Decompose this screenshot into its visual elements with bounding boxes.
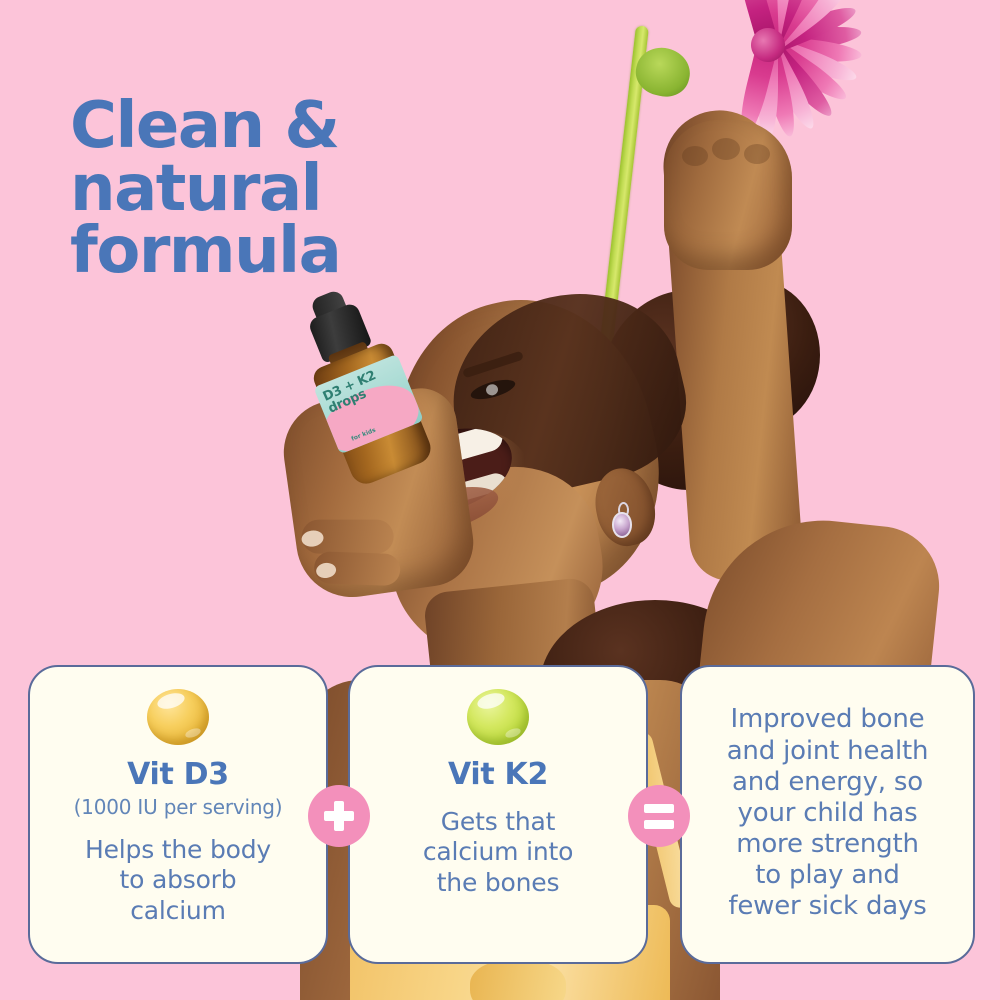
card-body: Gets that calcium into the bones <box>423 807 573 899</box>
earring-icon <box>612 512 632 538</box>
card-body: Helps the body to absorb calcium <box>85 835 271 927</box>
card-title: Vit D3 <box>127 759 229 791</box>
equals-badge <box>628 785 690 847</box>
card-subtitle: (1000 IU per serving) <box>74 795 283 819</box>
benefit-card-result[interactable]: Improved bone and joint health and energ… <box>680 665 975 964</box>
card-body: Improved bone and joint health and energ… <box>727 704 929 922</box>
green-droplet-icon <box>467 689 529 745</box>
product-marketing-image: D3 + K2 drops for kids Clean & natural f… <box>0 0 1000 1000</box>
benefit-card-vit-k2[interactable]: Vit K2 Gets that calcium into the bones <box>348 665 648 964</box>
gerbera-flower-icon <box>639 0 898 136</box>
yellow-droplet-icon <box>147 689 209 745</box>
closed-fist <box>664 120 792 270</box>
equals-icon <box>644 820 674 829</box>
plus-badge <box>308 785 370 847</box>
benefit-card-vit-d3[interactable]: Vit D3 (1000 IU per serving) Helps the b… <box>28 665 328 964</box>
card-title: Vit K2 <box>448 759 548 791</box>
tank-top-knot <box>470 960 566 1000</box>
equals-icon <box>644 804 674 813</box>
page-headline: Clean & natural formula <box>70 95 490 283</box>
plus-icon <box>334 801 344 831</box>
